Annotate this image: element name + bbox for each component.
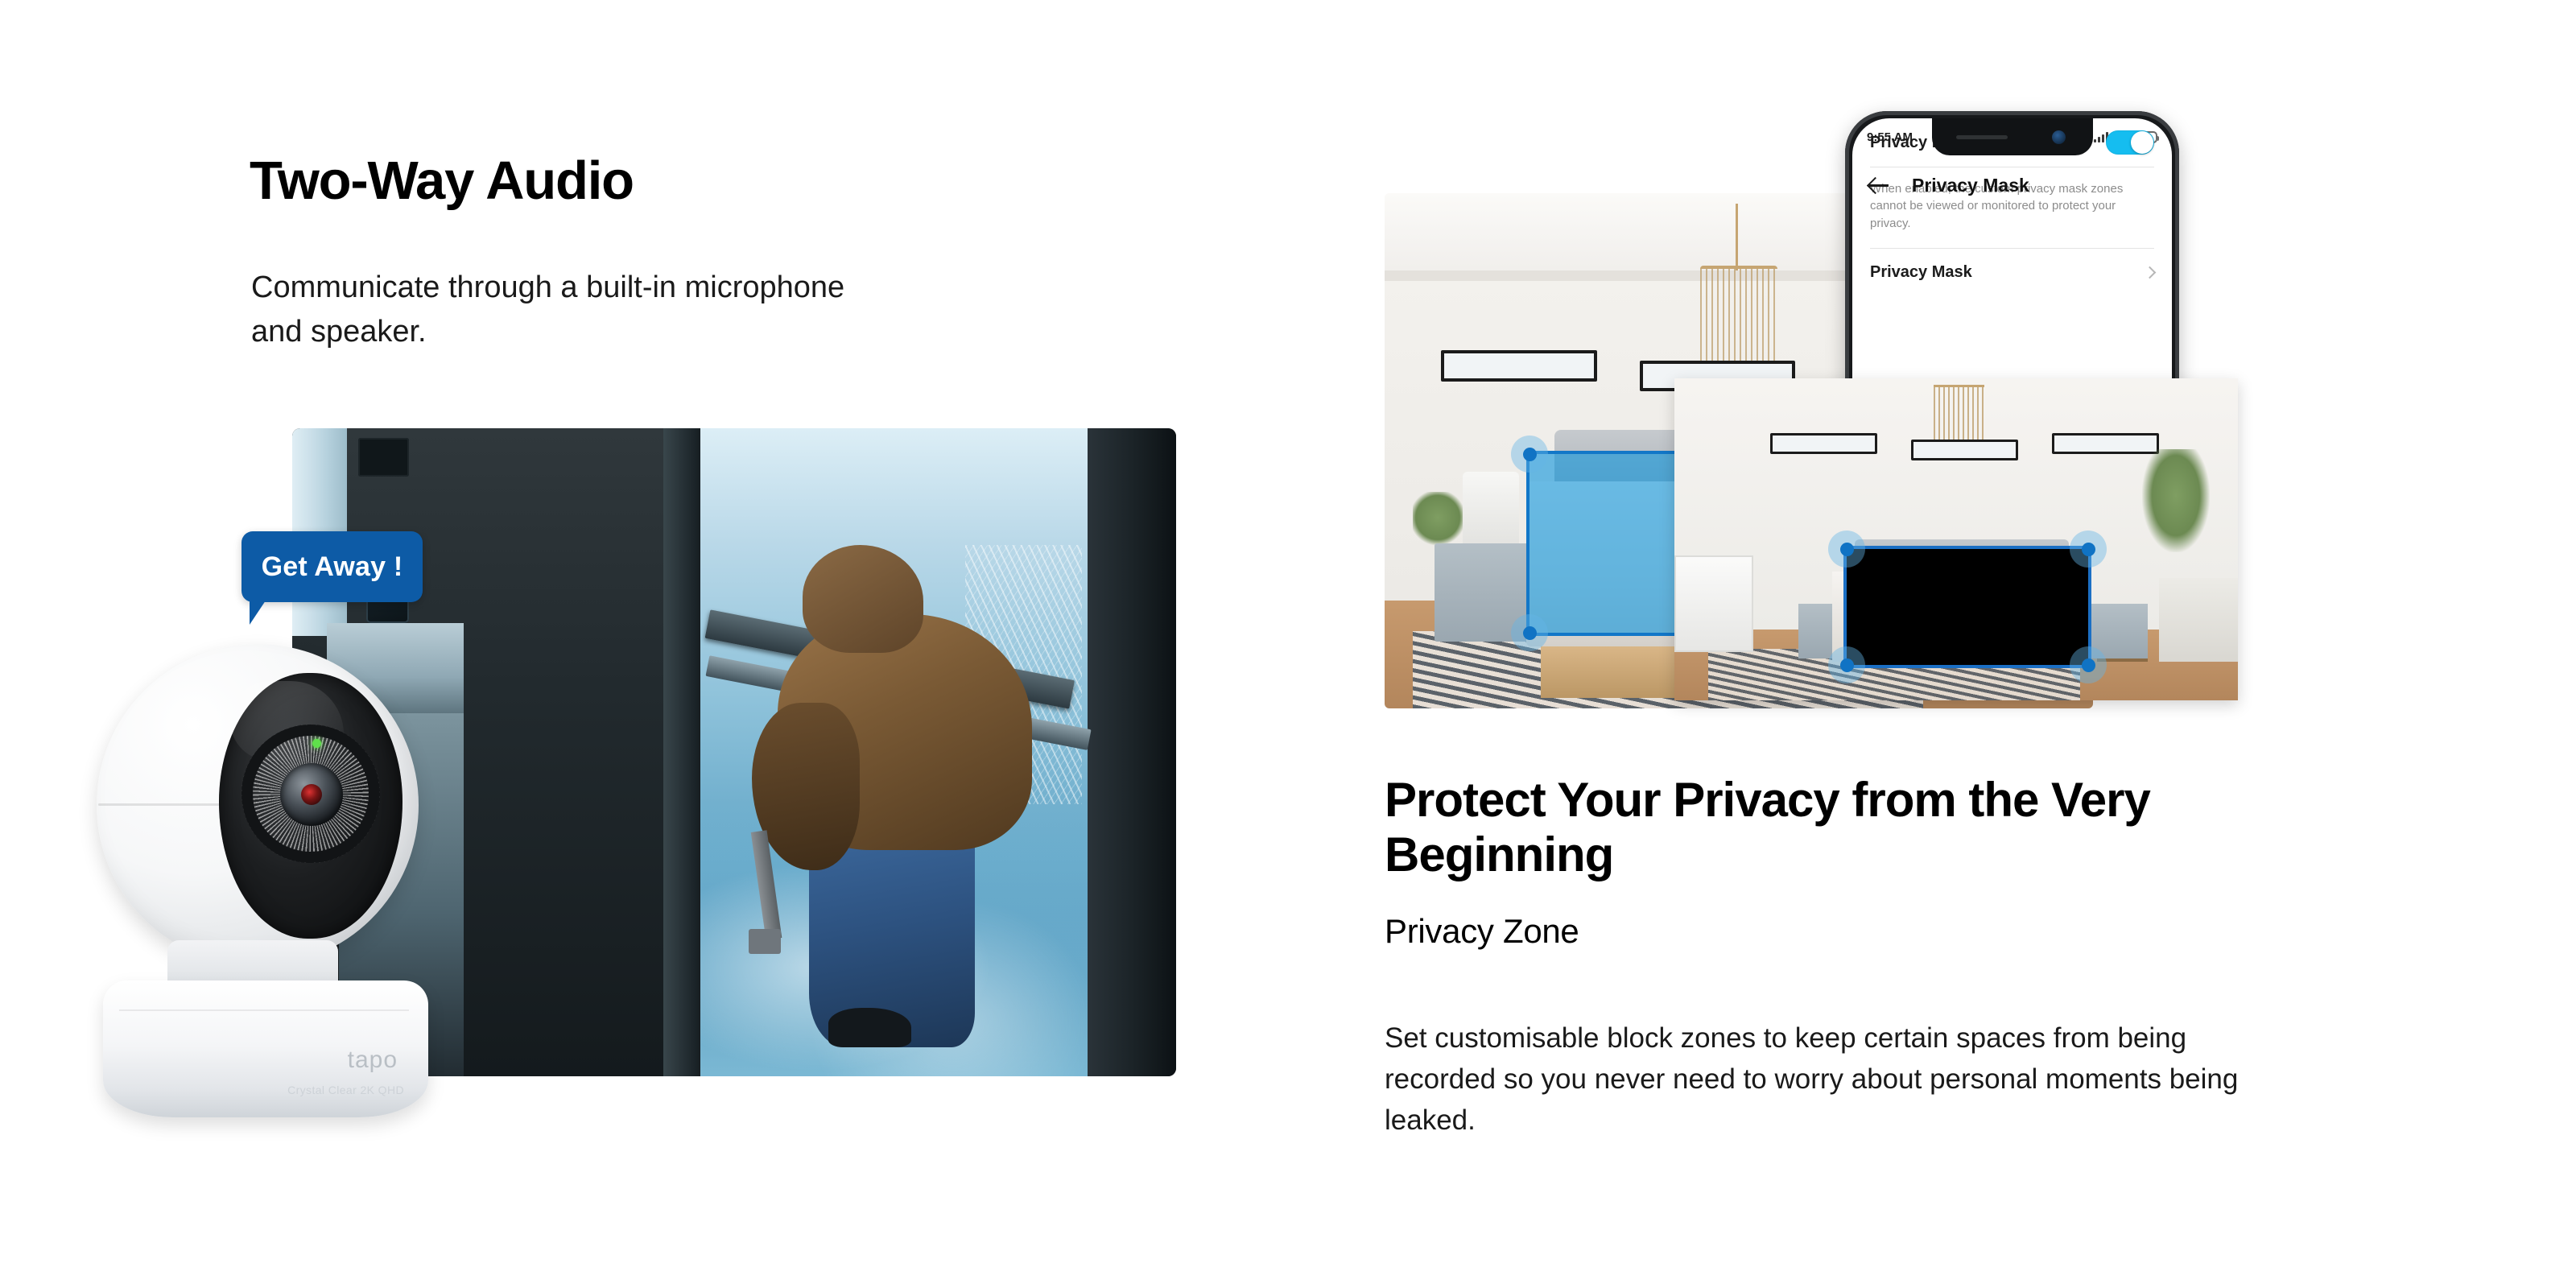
photo-intruder-figure — [752, 545, 1070, 1038]
left-page-title: Two-Way Audio — [250, 153, 634, 209]
mask-handle-top-left[interactable] — [1511, 436, 1548, 473]
left-subtext: Communicate through a built-in microphon… — [251, 266, 863, 354]
bedroom-window-left — [1441, 350, 1597, 381]
privacy-mask-zone-black[interactable] — [1843, 546, 2091, 668]
status-time: 9:55 AM — [1867, 130, 1913, 144]
speech-bubble-tail — [250, 601, 272, 625]
bedroom-plant — [1413, 492, 1463, 548]
blackmask-handle-top-left[interactable] — [1828, 530, 1865, 568]
camera-base-seam — [119, 1009, 409, 1011]
camera-tagline-label: Crystal Clear 2K QHD — [287, 1084, 404, 1096]
speech-bubble-label: Get Away ! — [262, 551, 403, 583]
inset-dresser — [1674, 555, 1753, 652]
tapo-camera-product-image: tapo Crystal Clear 2K QHD — [97, 644, 435, 1127]
front-camera-icon — [2052, 130, 2066, 144]
blackmask-handle-bottom-right[interactable] — [2070, 646, 2107, 683]
privacy-mask-link-row[interactable]: Privacy Mask — [1852, 249, 2172, 297]
photo-vent — [358, 438, 409, 477]
chandelier-icon — [1700, 266, 1778, 369]
right-subheading: Privacy Zone — [1385, 912, 1579, 951]
privacy-mask-link-label: Privacy Mask — [1870, 263, 1972, 282]
intruder-hammer-head — [749, 929, 781, 954]
camera-lens — [280, 763, 343, 826]
privacy-zone-section: 9:55 AM Privacy Mask Privacy — [1240, 0, 2576, 1288]
inset-window-left — [1770, 433, 1877, 454]
app-screen-title: Privacy Mask — [1912, 175, 2029, 196]
inset-plant — [2142, 449, 2210, 552]
camera-brand-label: tapo — [348, 1046, 398, 1074]
app-navigation-bar: Privacy Mask — [1852, 160, 2172, 210]
inset-chandelier-icon — [1934, 385, 1984, 443]
camera-base: tapo Crystal Clear 2K QHD — [103, 980, 428, 1117]
right-page-title: Protect Your Privacy from the Very Begin… — [1385, 773, 2198, 883]
camera-status-led — [312, 739, 321, 748]
chevron-right-icon[interactable] — [2144, 266, 2157, 279]
blackmask-handle-bottom-left[interactable] — [1828, 646, 1865, 683]
inset-sofa — [2159, 578, 2238, 662]
inset-window-center — [1911, 440, 2018, 460]
intruder-shoe — [828, 1008, 911, 1047]
intruder-hood — [803, 545, 923, 654]
earpiece-speaker — [1956, 135, 2008, 139]
bedroom-lamp — [1463, 472, 1519, 549]
get-away-speech-bubble: Get Away ! — [242, 531, 423, 602]
bedroom-blackmask-photo — [1674, 378, 2238, 700]
photo-right-wall — [1088, 428, 1176, 1076]
blackmask-handle-top-right[interactable] — [2070, 530, 2107, 568]
privacy-mask-toggle[interactable] — [2106, 130, 2154, 155]
chandelier-chain — [1736, 204, 1738, 270]
marketing-page: Two-Way Audio Communicate through a buil… — [0, 0, 2576, 1288]
two-way-audio-section: Two-Way Audio Communicate through a buil… — [0, 0, 1240, 1288]
photo-door-frame — [663, 428, 702, 1076]
right-body-text: Set customisable block zones to keep cer… — [1385, 1018, 2254, 1141]
phone-notch — [1932, 118, 2093, 155]
arrow-left-icon[interactable] — [1868, 175, 1889, 196]
